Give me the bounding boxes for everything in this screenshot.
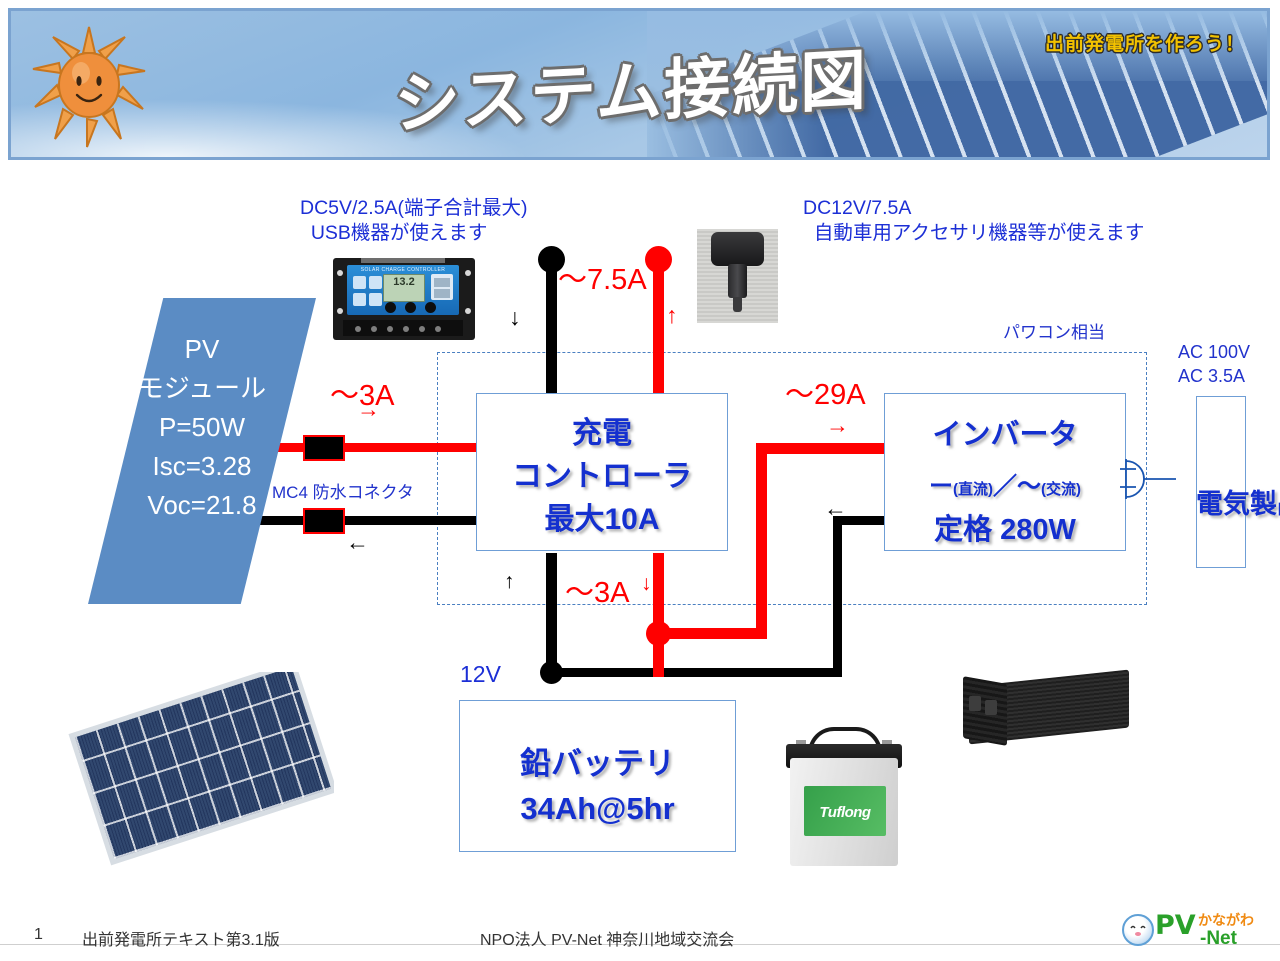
pvnet-face-icon (1126, 919, 1150, 941)
battery-voltage-label: 12V (460, 661, 501, 688)
powcon-equivalent-label: パワコン相当 (1003, 318, 1105, 343)
wire-controller-battery-negative (546, 553, 557, 677)
battery-brand-text: Tuflong (804, 786, 886, 836)
inverter-photo (957, 668, 1139, 760)
current-usb-out: 〜7.5A (558, 256, 647, 298)
header-banner: システム接続図 出前発電所を作ろう！ (8, 8, 1270, 160)
wire-inverter-positive-in (756, 443, 887, 454)
inverter-slash: ／ (993, 473, 1017, 500)
arrow-to-inverter: → (826, 412, 849, 439)
pvnet-logo: PV かながわ -Net (1122, 908, 1272, 952)
wire-inverter-positive-riser (756, 443, 767, 633)
appliance-label: 電気製品 (1196, 404, 1246, 564)
inverter-ac-label: (交流) (1041, 481, 1081, 498)
charge-controller-label: 充電 コントローラ 最大10A (476, 412, 728, 541)
inverter-dc-symbol: ー (929, 473, 953, 500)
sun-mascot-icon (29, 23, 149, 149)
arrow-batt-down: ↓ (641, 572, 652, 596)
charge-controller-photo: SOLAR CHARGE CONTROLLER 13.2 (333, 258, 475, 340)
wire-dc12v-positive-post (653, 255, 664, 403)
arrow-controller-to-pv: ← (346, 529, 369, 556)
wire-inverter-negative (833, 516, 842, 677)
wire-controller-battery-positive (653, 553, 664, 677)
charge-controller-lcd-value: 13.2 (383, 274, 425, 302)
battery-photo: Tuflong (782, 718, 907, 870)
arrow-pv-to-controller: → (357, 396, 380, 423)
terminal-red-cap (645, 246, 672, 273)
solar-panel-photo (64, 672, 334, 872)
pvnet-logo-net-text: -Net (1200, 928, 1237, 950)
banner-tagline: 出前発電所を作ろう！ (1045, 29, 1245, 56)
dc12v-output-note: DC12V/7.5A 自動車用アクセサリ機器等が使えます (803, 196, 1144, 246)
current-inverter-in: 〜29A (785, 371, 866, 413)
current-batt-charge: 〜3A (565, 569, 629, 611)
junction-dot-positive (646, 621, 671, 646)
footer-document-title: 出前発電所テキスト第3.1版 (82, 926, 280, 950)
pvnet-logo-kanagawa-text: かながわ (1198, 910, 1254, 930)
arrow-usb-down: ↓ (509, 304, 521, 331)
wire-dc-negative-post (546, 255, 557, 403)
ac-output-label: AC 100V AC 3.5A (1178, 340, 1250, 388)
footer-page-number: 1 (34, 926, 43, 944)
arrow-dc12v-up: ↑ (666, 302, 678, 329)
charge-controller-brand-text: SOLAR CHARGE CONTROLLER (355, 267, 451, 273)
arrow-from-battery: ← (824, 495, 847, 522)
inverter-dc-label: (直流) (953, 481, 993, 498)
junction-dot-negative (540, 661, 563, 684)
usb-output-note: DC5V/2.5A(端子合計最大) USB機器が使えます (300, 196, 528, 246)
inverter-title-label: インバータ (884, 411, 1126, 453)
battery-label: 鉛バッテリ 34Ah@5hr (459, 741, 736, 831)
car-socket-adapter-photo (697, 229, 778, 323)
inverter-rating-label: 定格 280W (884, 506, 1126, 548)
pvnet-logo-pv-text: PV (1155, 910, 1196, 941)
arrow-batt-up: ↑ (504, 570, 515, 594)
wire-negative-bus (546, 668, 842, 677)
inverter-ac-symbol: 〜 (1017, 473, 1041, 500)
pv-module-label: PV モジュール P=50W Isc=3.28 Voc=21.8 (88, 330, 316, 525)
footer-organization: NPO法人 PV-Net 神奈川地域交流会 (480, 926, 734, 950)
ac-outlet-icon (1120, 455, 1190, 515)
inverter-dcac-row: ー(直流)／〜(交流) (884, 466, 1126, 501)
